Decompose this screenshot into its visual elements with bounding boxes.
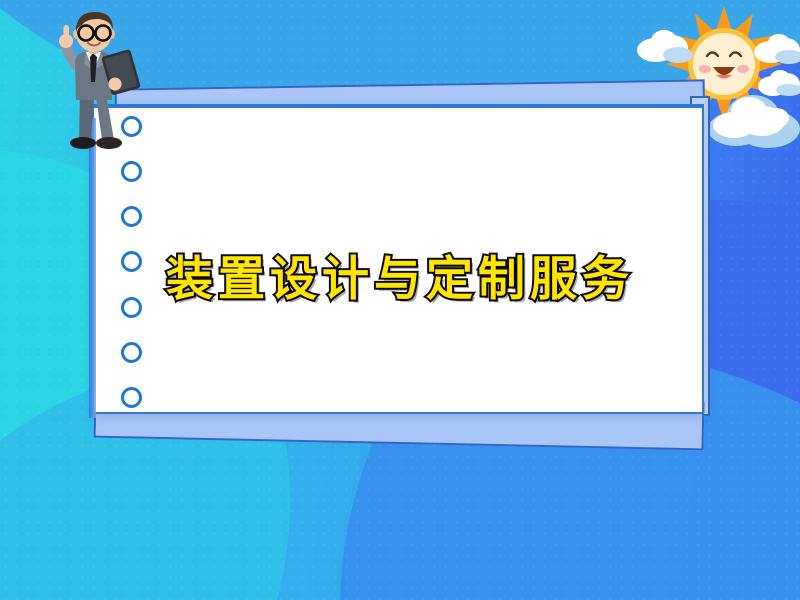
cloud-small-left-icon (636, 28, 696, 69)
binder-hole (121, 116, 142, 137)
binder-hole (121, 161, 142, 182)
cloud-mid-right-icon (757, 68, 800, 103)
cloud-large-icon (706, 85, 800, 156)
binder-hole (121, 387, 142, 408)
binder-hole (121, 342, 142, 363)
card-top-rule (94, 106, 702, 108)
title-card: 装置设计与定制服务 (92, 104, 704, 414)
character-support-line (89, 118, 96, 418)
slide-canvas: 装置设计与定制服务 (0, 0, 800, 600)
cloud-small-right-icon (753, 32, 800, 71)
binder-hole (121, 206, 142, 227)
page-title: 装置设计与定制服务 (94, 254, 706, 306)
